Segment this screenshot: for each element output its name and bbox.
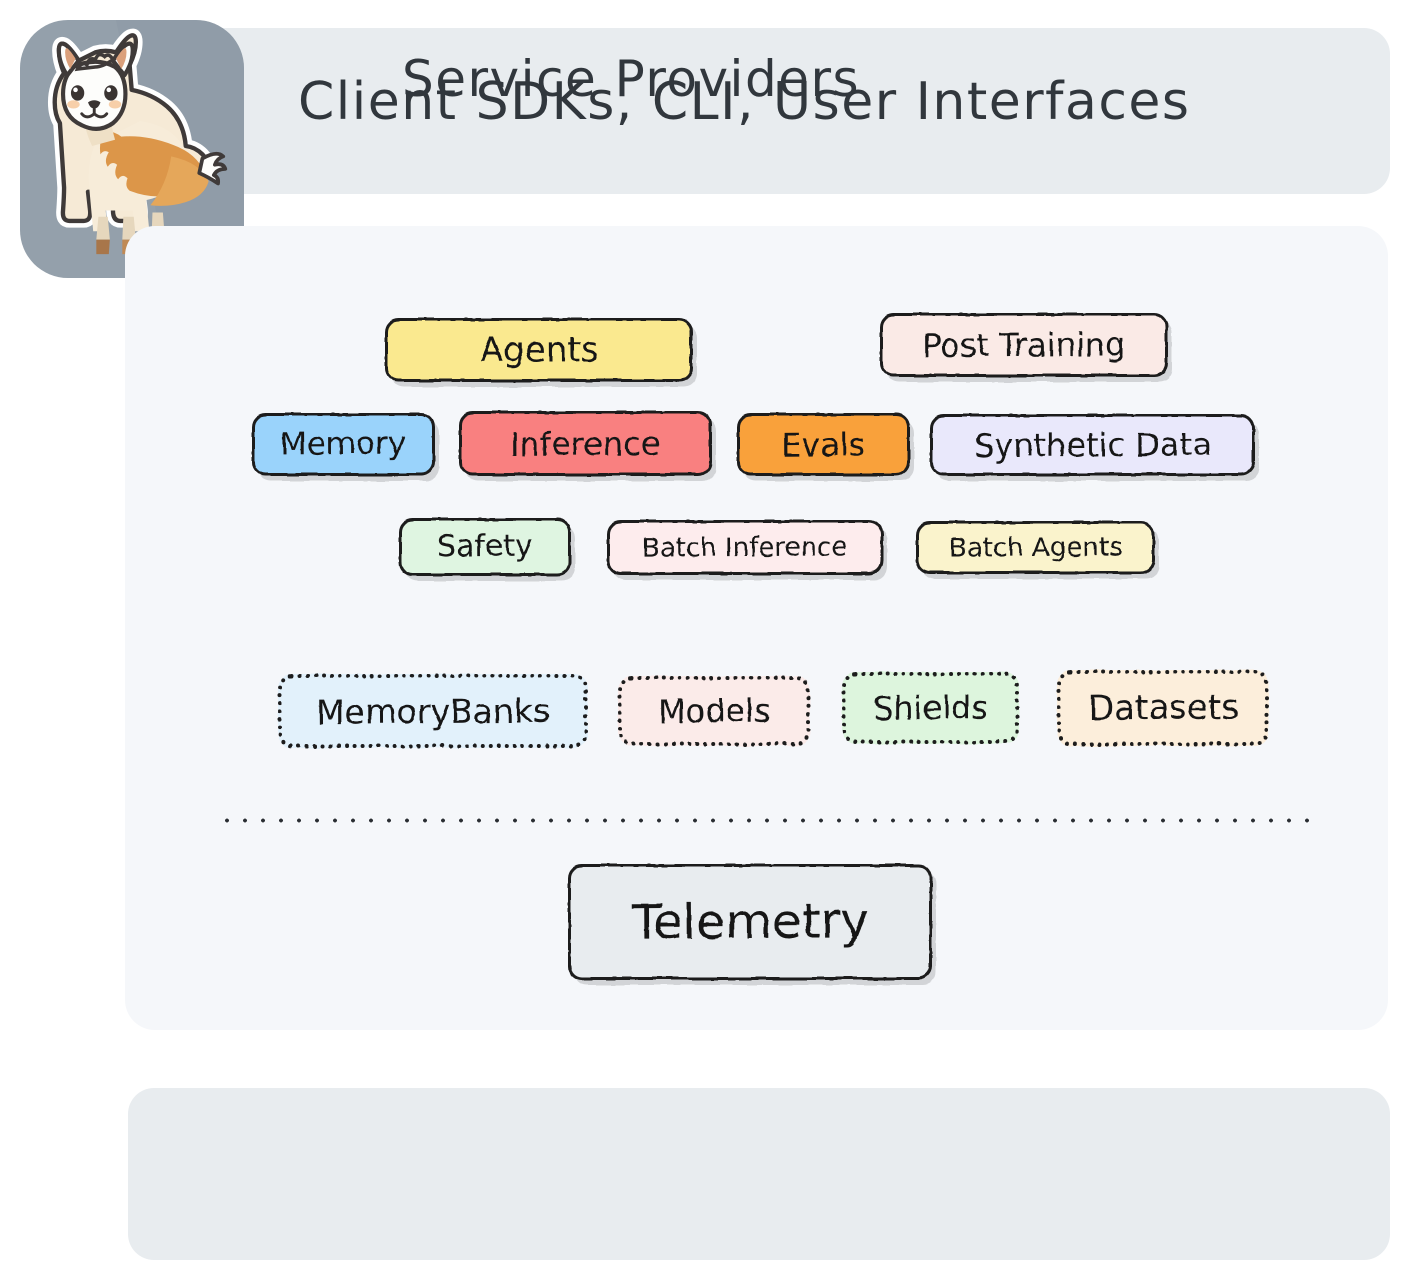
api-node-safety[interactable]: Safety [399,518,571,576]
telemetry-node[interactable]: Telemetry [568,864,932,980]
node-label: Synthetic Data [974,428,1212,461]
node-label: Safety [437,532,533,563]
api-node-inference[interactable]: Inference [459,411,712,476]
api-node-post-training[interactable]: Post Training [880,313,1168,377]
resource-node-shields[interactable]: Shields [842,672,1019,744]
node-label: Evals [781,428,866,461]
node-label: Agents [480,333,599,368]
node-label: Inference [510,427,661,460]
api-node-evals[interactable]: Evals [737,413,910,476]
node-label: Batch Agents [949,534,1123,561]
node-label: Telemetry [631,897,868,946]
node-label: MemoryBanks [316,694,550,728]
api-node-agents[interactable]: Agents [385,318,693,382]
service-providers-bar [128,1088,1390,1260]
api-node-batch-agents[interactable]: Batch Agents [916,521,1155,574]
footer-title: Service Providers [0,50,1262,108]
section-divider [218,818,1322,823]
node-label: Models [658,695,771,728]
resource-node-memorybanks[interactable]: MemoryBanks [278,674,588,748]
node-label: Post Training [922,328,1126,361]
node-label: Shields [873,692,988,725]
api-node-synthetic-data[interactable]: Synthetic Data [930,414,1255,476]
resource-node-models[interactable]: Models [618,676,810,746]
node-label: Memory [280,429,406,461]
api-node-memory[interactable]: Memory [252,413,435,476]
diagram-canvas: Client SDKs, CLI, User Interfaces [0,0,1410,1268]
api-node-batch-inference[interactable]: Batch Inference [607,520,883,575]
node-label: Datasets [1087,691,1238,726]
node-label: Batch Inference [642,534,847,561]
resource-node-datasets[interactable]: Datasets [1057,670,1269,746]
